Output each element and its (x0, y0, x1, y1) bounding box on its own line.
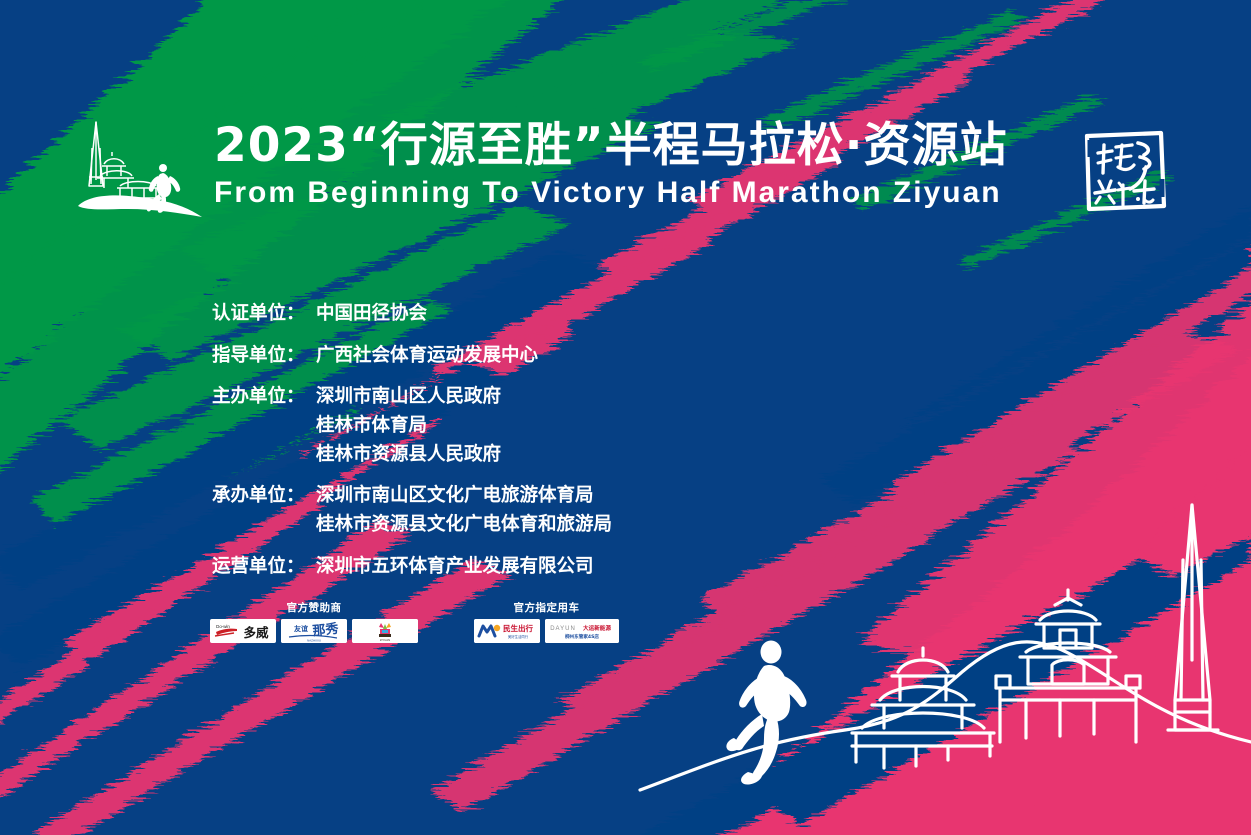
title-block: 2023“行源至胜”半程马拉松·资源站 From Beginning To Vi… (214, 122, 1044, 208)
organizer-row: 承办单位： 深圳市南山区文化广电旅游体育局 桂林市资源县文化广电体育和旅游局 (212, 482, 772, 539)
organizer-row: 指导单位： 广西社会体育运动发展中心 (212, 342, 772, 371)
organizer-values: 深圳市五环体育产业发展有限公司 (316, 553, 772, 582)
organizer-label: 运营单位： (212, 553, 316, 582)
organizer-list: 认证单位： 中国田径协会 指导单位： 广西社会体育运动发展中心 主办单位： 深圳… (212, 300, 772, 594)
svg-text:美好生活同行: 美好生活同行 (508, 634, 529, 639)
organizer-label: 认证单位： (212, 300, 316, 329)
marathon-poster: 2023“行源至胜”半程马拉松·资源站 From Beginning To Vi… (0, 0, 1251, 835)
rural-revitalization-seal (1078, 127, 1170, 213)
organizer-value: 中国田径协会 (316, 300, 772, 329)
organizer-row: 运营单位： 深圳市五环体育产业发展有限公司 (212, 553, 772, 582)
svg-text:柳州东管家4S店: 柳州东管家4S店 (565, 633, 599, 640)
svg-text:多威: 多威 (243, 625, 269, 640)
svg-text:Do-win: Do-win (216, 624, 230, 629)
skyscraper-icon (1168, 505, 1218, 730)
svg-text:DAYUN: DAYUN (550, 626, 576, 632)
poster-header: 2023“行源至胜”半程马拉松·资源站 From Beginning To Vi… (0, 108, 1251, 228)
page-title: 2023“行源至胜”半程马拉松·资源站 (214, 122, 1044, 169)
svg-text:ZIYUAN: ZIYUAN (380, 638, 390, 642)
organizer-value: 桂林市体育局 (316, 412, 772, 441)
organizer-values: 广西社会体育运动发展中心 (316, 342, 772, 371)
organizer-values: 中国田径协会 (316, 300, 772, 329)
runner-silhouette-icon (726, 641, 806, 785)
sponsor-group-official: 官方赞助商 Do-win 多威 友谊 那秀 (210, 600, 418, 643)
organizer-values: 深圳市南山区人民政府 桂林市体育局 桂林市资源县人民政府 (316, 383, 772, 469)
sponsor-logo-row: 民生出行 美好生活同行 DAYUN 大运新能源 柳州东管家4S店 (474, 619, 619, 643)
sponsor-group-heading: 官方指定用车 (514, 600, 580, 615)
organizer-value: 桂林市资源县人民政府 (316, 441, 772, 470)
svg-text:NAZHIXIU: NAZHIXIU (307, 639, 321, 643)
organizer-value: 广西社会体育运动发展中心 (316, 342, 772, 371)
svg-text:大运新能源: 大运新能源 (583, 624, 611, 632)
organizer-label: 承办单位： (212, 482, 316, 511)
sponsor-bar: 官方赞助商 Do-win 多威 友谊 那秀 (210, 600, 619, 643)
sponsor-group-heading: 官方赞助商 (287, 600, 342, 615)
organizer-value: 深圳市南山区人民政府 (316, 383, 772, 412)
organizer-row: 认证单位： 中国田径协会 (212, 300, 772, 329)
organizer-value: 桂林市资源县文化广电体育和旅游局 (316, 511, 772, 540)
pagoda-icon (852, 648, 994, 768)
marathon-city-runner-emblem (62, 114, 212, 224)
sponsor-logo-row: Do-win 多威 友谊 那秀 NAZHIXIU (210, 619, 418, 643)
minsheng-chuxing-logo[interactable]: 民生出行 美好生活同行 (474, 619, 540, 643)
dayun-logo[interactable]: DAYUN 大运新能源 柳州东管家4S店 (545, 619, 619, 643)
svg-text:民生出行: 民生出行 (503, 623, 533, 633)
organizer-values: 深圳市南山区文化广电旅游体育局 桂林市资源县文化广电体育和旅游局 (316, 482, 772, 539)
sponsor-group-vehicle: 官方指定用车 民生出行 美好生活同行 DAYUN 大运新能源 (474, 600, 619, 643)
page-subtitle: From Beginning To Victory Half Marathon … (214, 178, 1044, 208)
svg-text:友谊: 友谊 (293, 624, 308, 633)
organizer-value: 深圳市南山区文化广电旅游体育局 (316, 482, 772, 511)
organizer-value: 深圳市五环体育产业发展有限公司 (316, 553, 772, 582)
organizer-label: 主办单位： (212, 383, 316, 412)
organizer-label: 指导单位： (212, 342, 316, 371)
gate-tower-icon (996, 590, 1140, 742)
do-win-duowei-logo[interactable]: Do-win 多威 (210, 619, 276, 643)
ziyuan-emblem-logo[interactable]: ZIYUAN (352, 619, 418, 643)
organizer-row: 主办单位： 深圳市南山区人民政府 桂林市体育局 桂林市资源县人民政府 (212, 383, 772, 469)
nazhixiu-logo[interactable]: 友谊 那秀 NAZHIXIU (281, 619, 347, 643)
